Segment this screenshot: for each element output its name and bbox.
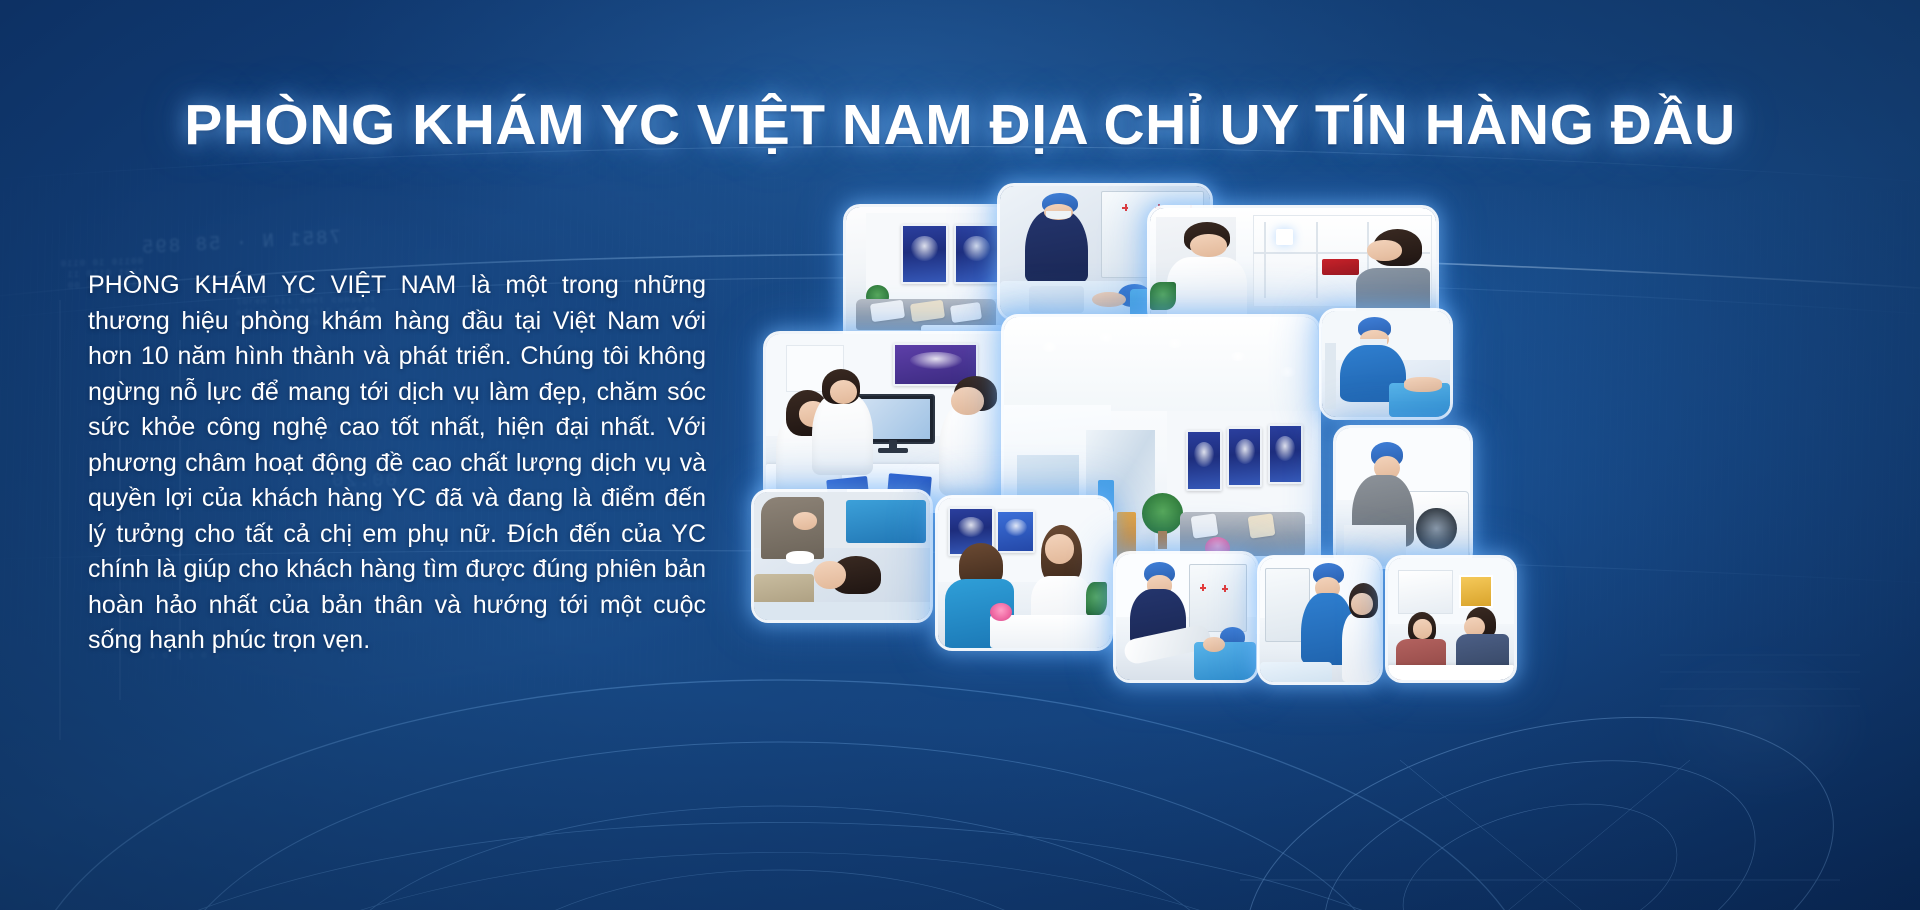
- collage-photo-nurse-leg-treatment[interactable]: [1322, 311, 1450, 417]
- collage-photo-ultrasound-care[interactable]: [754, 492, 930, 620]
- collage-photo-laser-session[interactable]: [1116, 554, 1256, 680]
- collage-photo-doctors-meeting[interactable]: [766, 334, 1020, 510]
- intro-paragraph: PHÒNG KHÁM YC VIỆT NAM là một trong nhữn…: [88, 268, 706, 659]
- photo-collage: [748, 186, 1888, 686]
- intro-paragraph-text: PHÒNG KHÁM YC VIỆT NAM là một trong nhữn…: [88, 271, 706, 654]
- collage-photo-consult-customer[interactable]: [1150, 208, 1436, 324]
- background-code-plate: 7851 N · 58 895: [140, 227, 342, 259]
- collage-photo-desk-consultation[interactable]: [1388, 558, 1514, 680]
- collage-photo-nurse-patient-prep[interactable]: [1260, 558, 1380, 682]
- page-title: PHÒNG KHÁM YC VIỆT NAM ĐỊA CHỈ UY TÍN HÀ…: [0, 95, 1920, 155]
- collage-photo-reception-greeting[interactable]: [938, 498, 1110, 648]
- poster-stage: 7851 N · 58 895 00110 10 01101001 0110 1…: [0, 0, 1920, 910]
- collage-photo-equipment-operator[interactable]: [1336, 428, 1470, 566]
